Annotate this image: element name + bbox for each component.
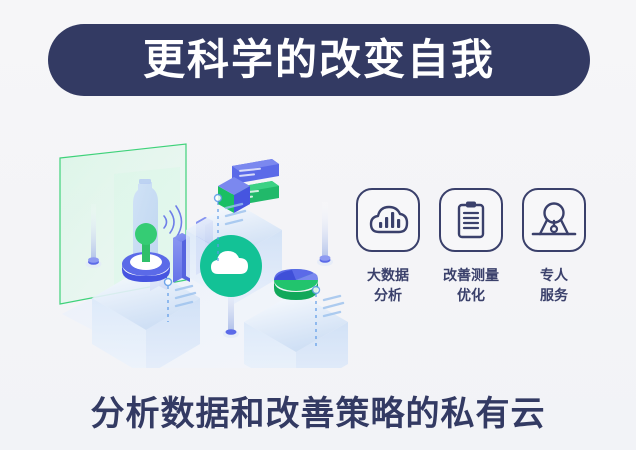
isometric-illustration xyxy=(46,118,356,368)
page-title: 更科学的改变自我 xyxy=(143,39,495,81)
support-agent-icon xyxy=(522,188,586,252)
tagline: 分析数据和改善策略的私有云 xyxy=(0,386,636,435)
poster-canvas: 更科学的改变自我 xyxy=(0,0,636,450)
feature-label-measurement: 改善测量 优化 xyxy=(443,265,499,306)
feature-label-big-data: 大数据 分析 xyxy=(367,265,409,306)
feature-label-service: 专人 服务 xyxy=(540,265,568,306)
isometric-cube xyxy=(218,177,250,213)
feature-item-service[interactable]: 专人 服务 xyxy=(518,188,590,333)
feature-label-line2: 分析 xyxy=(367,285,409,305)
clipboard-icon xyxy=(439,188,503,252)
header-banner: 更科学的改变自我 xyxy=(48,24,590,96)
pie-chart-3d xyxy=(274,269,318,300)
feature-label-line2: 服务 xyxy=(540,285,568,305)
cloud-bar-chart-icon xyxy=(356,188,420,252)
feature-label-line1: 改善测量 xyxy=(443,265,499,285)
feature-list: 大数据 分析 改善测量 优化 xyxy=(352,188,590,333)
feature-item-measurement[interactable]: 改善测量 优化 xyxy=(435,188,507,333)
feature-item-big-data[interactable]: 大数据 分析 xyxy=(352,188,424,333)
feature-label-line1: 大数据 xyxy=(367,265,409,285)
feature-label-line2: 优化 xyxy=(443,285,499,305)
data-tag-blue xyxy=(232,159,279,183)
feature-label-line1: 专人 xyxy=(540,265,568,285)
measuring-rod-right xyxy=(317,202,333,266)
